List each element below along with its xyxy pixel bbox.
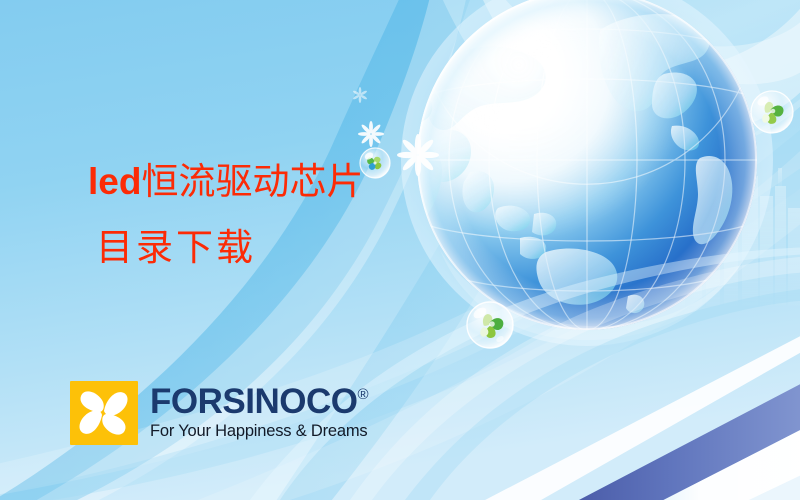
city-skyline-icon — [634, 156, 800, 306]
bubble-pinwheel-icon — [467, 302, 513, 348]
brand-logo[interactable]: FORSINOCO® For Your Happiness & Dreams — [70, 381, 368, 445]
brand-name-text: FORSINOCO — [150, 385, 357, 419]
flower-sparkle-icon — [358, 121, 384, 147]
promo-banner: led恒流驱动芯片 目录下载 FORSINOCO® For Your Happ — [0, 0, 800, 500]
four-petal-pinwheel-icon — [70, 381, 138, 445]
logo-wordmark: FORSINOCO® For Your Happiness & Dreams — [150, 385, 368, 441]
flower-sparkle-icon — [397, 134, 439, 176]
registered-mark: ® — [357, 387, 368, 402]
world-globe-icon — [394, 0, 773, 346]
flower-sparkle-icon — [352, 87, 367, 103]
bubble-pinwheel-icon — [751, 91, 793, 133]
headline-latin-word: led — [88, 161, 141, 202]
headline-line-2: 目录下载 — [0, 227, 400, 271]
headline-cjk-words: 恒流驱动芯片 — [141, 162, 363, 203]
headline-line-1: led恒流驱动芯片 — [0, 160, 400, 205]
foreground-arcs — [250, 247, 800, 500]
brand-tagline: For Your Happiness & Dreams — [150, 422, 368, 441]
headline-block: led恒流驱动芯片 目录下载 — [0, 160, 400, 270]
brand-name: FORSINOCO® — [150, 385, 368, 419]
corner-bands — [462, 330, 800, 500]
